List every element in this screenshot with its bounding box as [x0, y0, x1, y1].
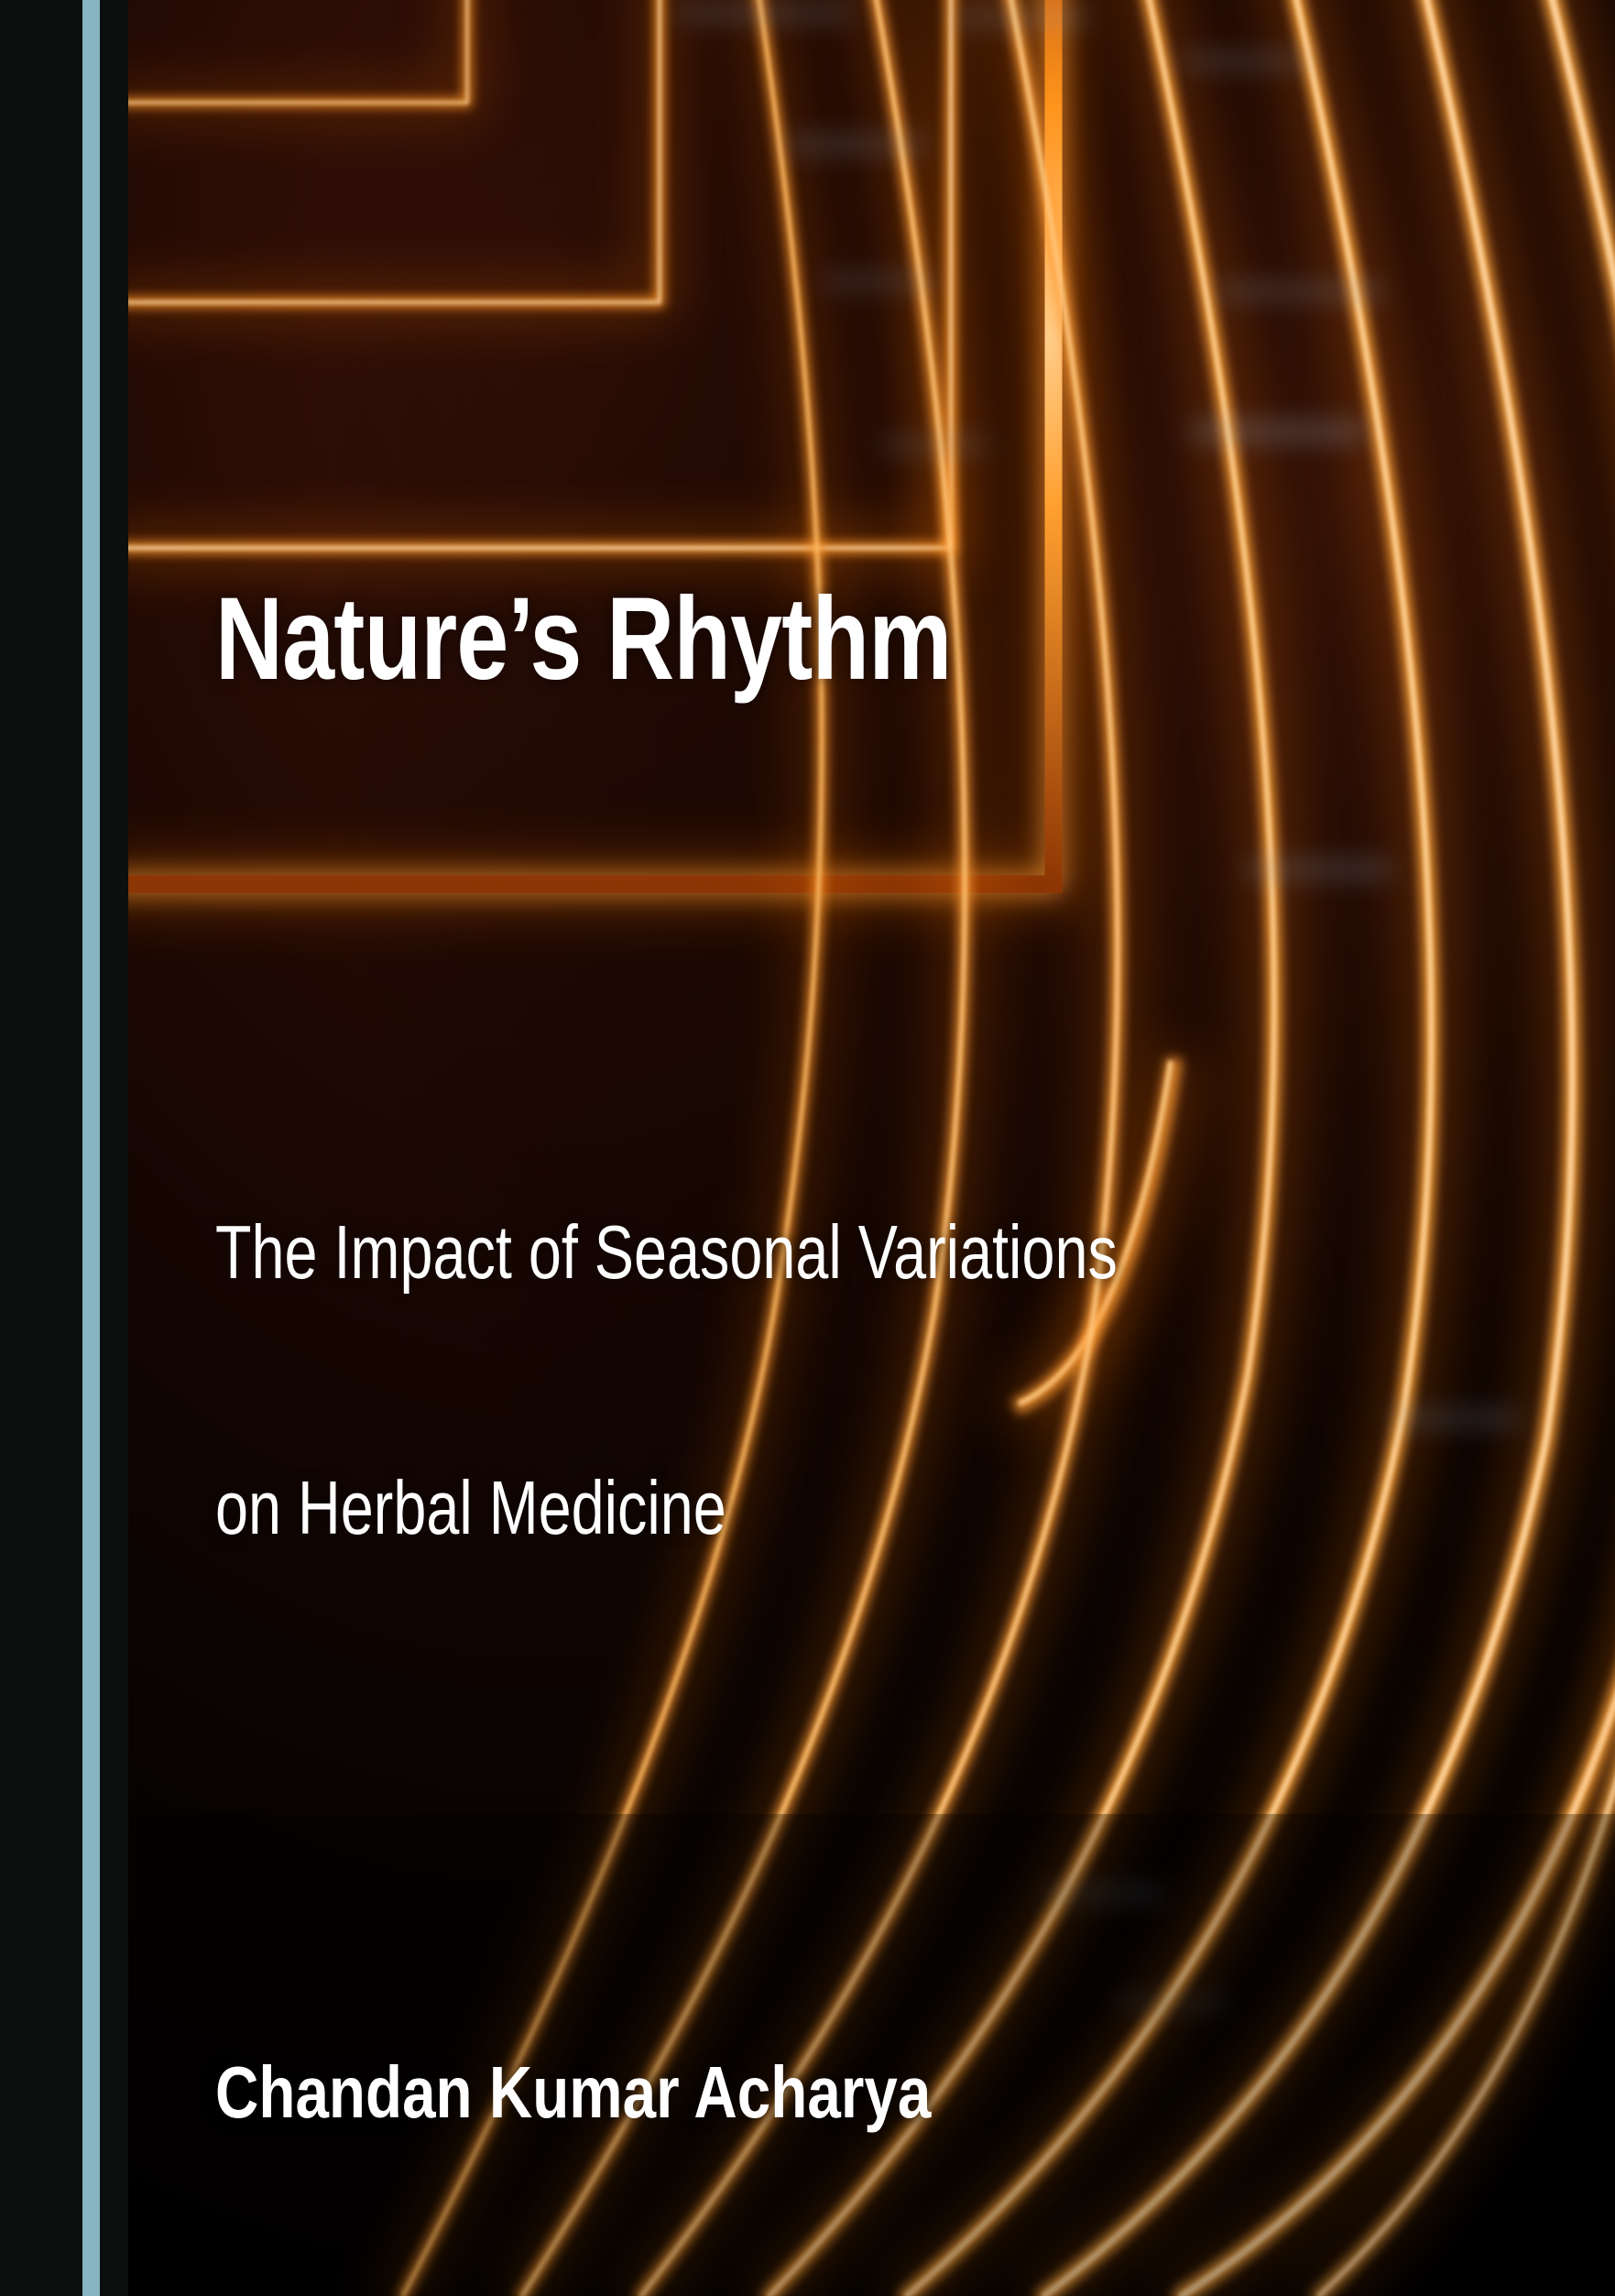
spine-inner-band [100, 0, 128, 2296]
author-name: Chandan Kumar Acharya [215, 2056, 931, 2129]
subtitle-line-1: The Impact of Seasonal Variations [215, 1210, 1118, 1296]
book-cover: Nature’s Rhythm The Impact of Seasonal V… [0, 0, 1615, 2296]
spine-outer-band [0, 0, 82, 2296]
book-subtitle: The Impact of Seasonal Variations on Her… [215, 1040, 1118, 1722]
book-title: Nature’s Rhythm [215, 581, 952, 698]
spine-accent-stripe [82, 0, 100, 2296]
subtitle-line-2: on Herbal Medicine [215, 1466, 1118, 1551]
